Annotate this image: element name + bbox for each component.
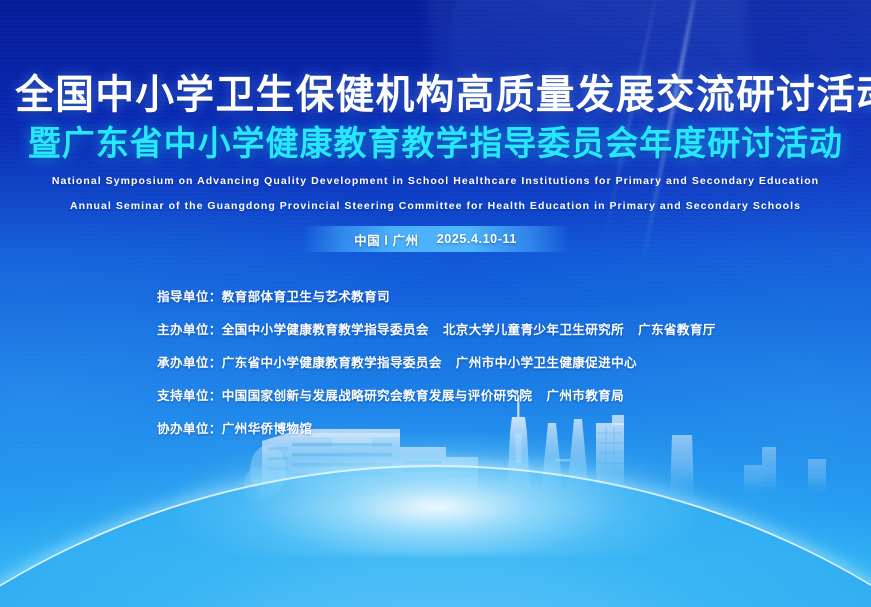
title-block: 全国中小学卫生保健机构高质量发展交流研讨活动 暨广东省中小学健康教育教学指导委员… <box>0 72 871 214</box>
organization-value: 北京大学儿童青少年卫生研究所 <box>443 319 624 338</box>
organization-value: 广东省教育厅 <box>638 319 716 338</box>
main-title-english: National Symposium on Advancing Quality … <box>0 174 871 189</box>
organization-label: 承办单位： <box>157 352 222 371</box>
organization-values: 中国国家创新与发展战略研究会教育发展与评价研究院 广州市教育局 <box>222 385 624 404</box>
organization-values: 全国中小学健康教育教学指导委员会 北京大学儿童青少年卫生研究所 广东省教育厅 <box>222 319 716 338</box>
organization-list: 指导单位： 教育部体育卫生与艺术教育司 主办单位： 全国中小学健康教育教学指导委… <box>157 286 716 437</box>
conference-banner: 全国中小学卫生保健机构高质量发展交流研讨活动 暨广东省中小学健康教育教学指导委员… <box>0 0 871 607</box>
organization-label: 指导单位： <box>157 286 222 305</box>
organization-value: 广州华侨博物馆 <box>222 418 313 437</box>
organization-value: 全国中小学健康教育教学指导委员会 <box>222 319 429 338</box>
organization-label: 支持单位： <box>157 385 222 404</box>
organization-row: 指导单位： 教育部体育卫生与艺术教育司 <box>157 286 716 305</box>
organization-values: 教育部体育卫生与艺术教育司 <box>222 286 390 305</box>
organization-values: 广州华侨博物馆 <box>222 418 313 437</box>
organization-label: 主办单位： <box>157 319 222 338</box>
horizon-glow-hotspot <box>176 435 696 555</box>
organization-value: 广州市中小学卫生健康促进中心 <box>456 352 637 371</box>
organization-row: 承办单位： 广东省中小学健康教育教学指导委员会 广州市中小学卫生健康促进中心 <box>157 352 716 371</box>
organization-value: 广州市教育局 <box>546 385 624 404</box>
organization-value: 广东省中小学健康教育教学指导委员会 <box>222 352 442 371</box>
main-title-chinese: 全国中小学卫生保健机构高质量发展交流研讨活动 <box>15 72 856 118</box>
subtitle-chinese: 暨广东省中小学健康教育教学指导委员会年度研讨活动 <box>15 125 856 164</box>
organization-label: 协办单位： <box>157 418 222 437</box>
organization-value: 中国国家创新与发展战略研究会教育发展与评价研究院 <box>222 385 533 404</box>
subtitle-english: Annual Seminar of the Guangdong Provinci… <box>0 199 871 214</box>
organization-row: 主办单位： 全国中小学健康教育教学指导委员会 北京大学儿童青少年卫生研究所 广东… <box>157 319 716 338</box>
location-date-ribbon: 中国 l 广州 2025.4.10-11 <box>302 226 570 252</box>
location-text: 中国 l 广州 <box>354 230 419 249</box>
organization-row: 协办单位： 广州华侨博物馆 <box>157 418 716 437</box>
organization-values: 广东省中小学健康教育教学指导委员会 广州市中小学卫生健康促进中心 <box>222 352 637 371</box>
horizon-curve <box>0 407 871 607</box>
date-text: 2025.4.10-11 <box>437 232 517 246</box>
organization-row: 支持单位： 中国国家创新与发展战略研究会教育发展与评价研究院 广州市教育局 <box>157 385 716 404</box>
organization-value: 教育部体育卫生与艺术教育司 <box>222 286 390 305</box>
